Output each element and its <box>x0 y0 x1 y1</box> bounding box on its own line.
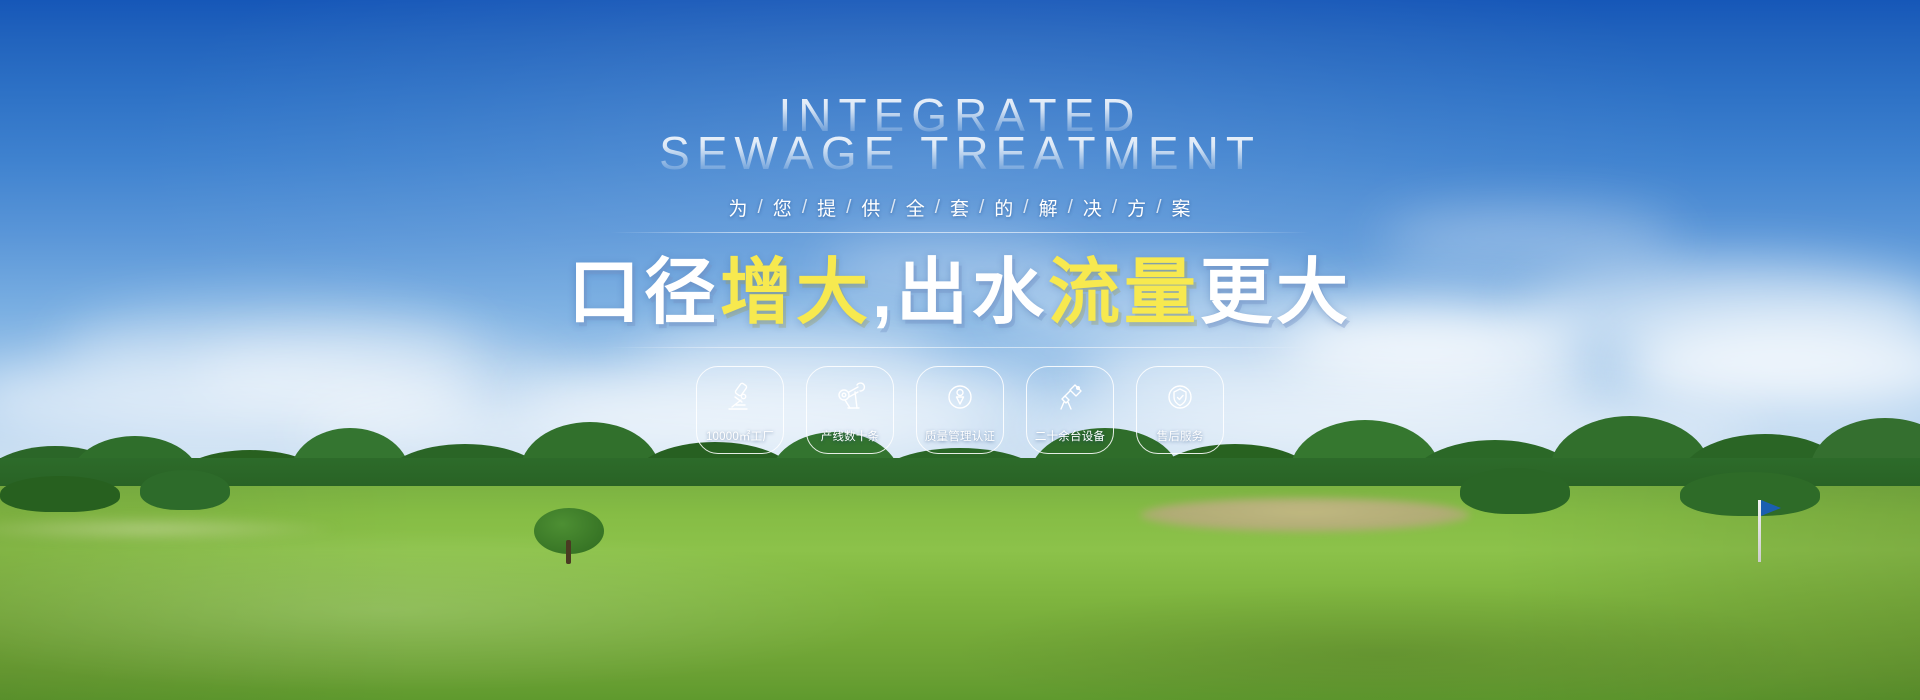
hero-banner: INTEGRATED SEWAGE TREATMENT 为/您/提/供/全/套/… <box>0 0 1920 700</box>
tagline-char: 解 <box>1030 194 1068 221</box>
divider-top <box>610 232 1310 233</box>
feature-badge-label: 售后服务 <box>1157 428 1204 444</box>
tagline-char: 全 <box>897 194 935 221</box>
tagline-char: 套 <box>941 194 979 221</box>
feature-badge-4[interactable]: 二十余台设备 <box>1026 366 1114 454</box>
headline-comma: , <box>872 255 896 333</box>
microscope-icon <box>697 367 783 428</box>
english-title-line2: SEWAGE TREATMENT <box>659 130 1261 176</box>
headline-part-6: 更大 <box>1200 255 1352 333</box>
tagline-char: 决 <box>1074 194 1112 221</box>
quality-certificate-icon <box>917 367 1003 428</box>
divider-bottom <box>610 347 1310 348</box>
tagline-char: 的 <box>985 194 1023 221</box>
english-title: INTEGRATED SEWAGE TREATMENT <box>659 92 1261 176</box>
tagline-char: 方 <box>1118 194 1156 221</box>
feature-badge-label: 产线数十条 <box>821 428 880 444</box>
headline-part-2: 增大 <box>720 255 872 333</box>
tagline-char: 您 <box>764 194 802 221</box>
feature-badge-1[interactable]: 10000㎡工厂 <box>696 366 784 454</box>
feature-badge-5[interactable]: 售后服务 <box>1136 366 1224 454</box>
feature-badge-label: 二十余台设备 <box>1035 428 1105 444</box>
banner-content: INTEGRATED SEWAGE TREATMENT 为/您/提/供/全/套/… <box>0 0 1920 700</box>
main-headline: 口径增大,出水流量更大 <box>568 255 1352 333</box>
feature-badge-label: 质量管理认证 <box>925 428 995 444</box>
tagline-char: 供 <box>852 194 890 221</box>
feature-badge-3[interactable]: 质量管理认证 <box>916 366 1004 454</box>
tagline: 为/您/提/供/全/套/的/解/决/方/案 <box>720 194 1201 221</box>
headline-part-1: 口径 <box>568 255 720 333</box>
production-machine-icon <box>807 367 893 428</box>
tagline-char: 案 <box>1162 194 1200 221</box>
headline-part-4: 出水 <box>896 255 1048 333</box>
feature-badge-label: 10000㎡工厂 <box>706 428 774 444</box>
headline-part-5: 流量 <box>1048 255 1200 333</box>
feature-badges: 10000㎡工厂产线数十条质量管理认证二十余台设备售后服务 <box>696 366 1224 454</box>
after-sales-shield-icon <box>1137 367 1223 428</box>
tagline-char: 提 <box>808 194 846 221</box>
tagline-char: 为 <box>720 194 758 221</box>
equipment-tool-icon <box>1027 367 1113 428</box>
feature-badge-2[interactable]: 产线数十条 <box>806 366 894 454</box>
